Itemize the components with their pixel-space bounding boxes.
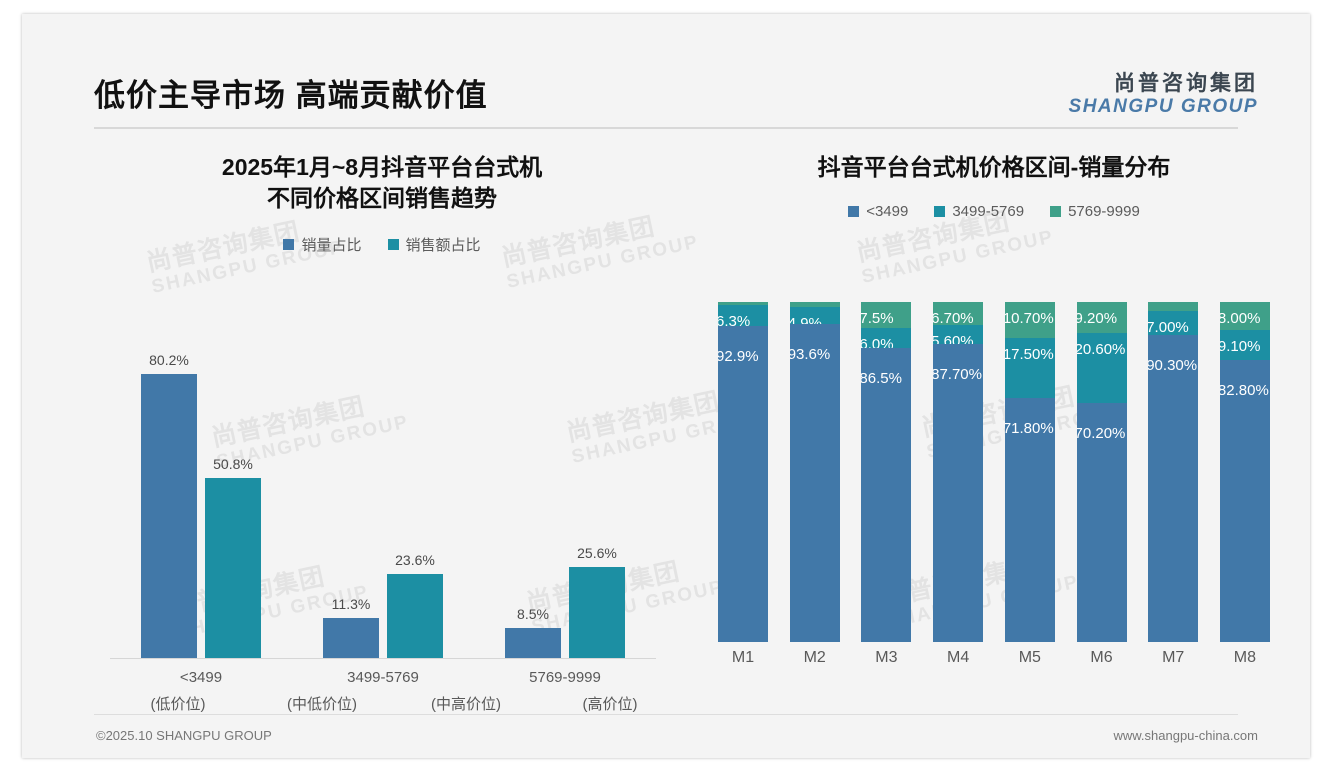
bar-wrapper: 8.5% <box>505 304 561 658</box>
right-chart-panel: 抖音平台台式机价格区间-销量分布 <34993499-57695769-9999… <box>694 144 1294 704</box>
bar-wrapper: 11.3% <box>323 304 379 658</box>
logo-text-en: SHANGPU GROUP <box>1069 96 1258 118</box>
stacked-bar[interactable]: 1.5%4.9%93.6% <box>790 302 840 642</box>
stack-segment[interactable]: 71.80% <box>1005 398 1055 642</box>
x-axis-sublabel: (高价位) <box>583 693 638 714</box>
stack-segment[interactable]: 93.6% <box>790 324 840 642</box>
stacked-bar[interactable]: 7.5%6.0%86.5% <box>861 302 911 642</box>
bar[interactable] <box>569 567 625 658</box>
stacked-bar[interactable]: 0.8%6.3%92.9% <box>718 302 768 642</box>
stacked-bar[interactable]: 6.70%5.60%87.70% <box>933 302 983 642</box>
stack-segment-label: 7.00% <box>1148 319 1189 336</box>
stack-segment-label: 82.80% <box>1220 382 1269 399</box>
bar-value-label: 23.6% <box>395 552 435 568</box>
x-axis-sublabel: (中低价位) <box>287 693 357 714</box>
bar-value-label: 11.3% <box>332 596 371 612</box>
stacked-bar[interactable]: 10.70%17.50%71.80% <box>1005 302 1055 642</box>
bar-value-label: 8.5% <box>517 606 549 622</box>
legend-label: 销量占比 <box>301 234 361 255</box>
bar[interactable] <box>141 374 197 658</box>
stack-segment-label: 10.70% <box>1005 310 1054 327</box>
stack-segment[interactable]: 7.5% <box>861 302 911 328</box>
legend-label: 销售额占比 <box>406 234 481 255</box>
stack-segment-label: 7.5% <box>861 310 893 327</box>
legend-label: 5769-9999 <box>1068 203 1140 220</box>
page-title: 低价主导市场 高端贡献价值 <box>94 70 488 115</box>
stack-segment-label: 17.50% <box>1005 346 1054 363</box>
x-axis-label: M7 <box>1148 649 1198 667</box>
stack-segment[interactable]: 70.20% <box>1077 403 1127 642</box>
legend-item[interactable]: 5769-9999 <box>1050 203 1140 220</box>
stack-segment-label: 86.5% <box>861 370 902 387</box>
footer-copyright: ©2025.10 SHANGPU GROUP <box>96 728 272 743</box>
stack-segment[interactable]: 6.70% <box>933 302 983 325</box>
stack-segment-label: 70.20% <box>1077 425 1126 442</box>
right-chart-x-labels: M1M2M3M4M5M6M7M8 <box>718 649 1270 667</box>
stack-segment[interactable]: 17.50% <box>1005 338 1055 398</box>
right-chart-plot: 0.8%6.3%92.9%1.5%4.9%93.6%7.5%6.0%86.5%6… <box>718 302 1270 642</box>
stack-segment[interactable]: 82.80% <box>1220 360 1270 642</box>
stack-segment-label: 93.6% <box>790 346 831 363</box>
right-chart-title-line1: 抖音平台台式机价格区间-销量分布 <box>818 154 1171 180</box>
logo-text-cn: 尚普咨询集团 <box>1069 72 1258 96</box>
bar-wrapper: 25.6% <box>569 304 625 658</box>
legend-item[interactable]: 销量占比 <box>283 234 361 255</box>
bar[interactable] <box>505 628 561 658</box>
x-axis-label: M2 <box>790 649 840 667</box>
stack-segment-label: 20.60% <box>1077 341 1126 358</box>
x-axis-label: M5 <box>1005 649 1055 667</box>
left-chart-legend: 销量占比销售额占比 <box>82 234 682 255</box>
bar-value-label: 80.2% <box>149 352 189 368</box>
stacked-bar[interactable]: 2.70%7.00%90.30% <box>1148 302 1198 642</box>
legend-item[interactable]: 销售额占比 <box>388 234 481 255</box>
brand-logo: 尚普咨询集团 SHANGPU GROUP <box>1069 72 1258 118</box>
x-axis-label: M6 <box>1077 649 1127 667</box>
header-divider <box>94 127 1238 129</box>
stack-segment[interactable]: 5.60% <box>933 325 983 344</box>
x-axis-label: M1 <box>718 649 768 667</box>
x-axis-label: M4 <box>933 649 983 667</box>
stack-segment-label: 71.80% <box>1005 420 1054 437</box>
stack-segment[interactable]: 2.70% <box>1148 302 1198 311</box>
x-axis-label: M8 <box>1220 649 1270 667</box>
footer-divider <box>94 714 1238 715</box>
legend-item[interactable]: 3499-5769 <box>934 203 1024 220</box>
bar[interactable] <box>323 618 379 658</box>
bar-wrapper: 23.6% <box>387 304 443 658</box>
left-chart-title-line1: 2025年1月~8月抖音平台台式机 <box>222 154 542 180</box>
stack-segment[interactable]: 4.9% <box>790 307 840 324</box>
stack-segment[interactable]: 90.30% <box>1148 335 1198 642</box>
legend-label: <3499 <box>866 203 908 220</box>
stack-segment-label: 92.9% <box>718 348 759 365</box>
bar[interactable] <box>387 574 443 658</box>
stack-segment[interactable]: 87.70% <box>933 344 983 642</box>
left-chart-title-line2: 不同价格区间销售趋势 <box>82 183 682 214</box>
footer-website: www.shangpu-china.com <box>1113 728 1258 743</box>
stack-segment-label: 87.70% <box>933 366 982 383</box>
x-axis-label: 5769-9999 <box>529 669 601 686</box>
bar-group: 8.5%25.6% <box>474 304 656 658</box>
x-axis-label: M3 <box>861 649 911 667</box>
legend-swatch-icon <box>1050 206 1061 217</box>
x-axis-line <box>110 658 656 659</box>
stack-segment-label: 8.00% <box>1220 310 1261 327</box>
bar-value-label: 50.8% <box>213 456 253 472</box>
legend-swatch-icon <box>283 239 294 250</box>
left-chart-plot: 80.2%50.8%11.3%23.6%8.5%25.6% <box>110 304 656 659</box>
legend-swatch-icon <box>848 206 859 217</box>
legend-swatch-icon <box>934 206 945 217</box>
x-axis-label: <3499 <box>180 669 222 686</box>
stack-segment[interactable]: 86.5% <box>861 348 911 642</box>
stack-segment[interactable]: 9.10% <box>1220 330 1270 361</box>
stack-segment-label: 90.30% <box>1148 357 1197 374</box>
bar-group: 11.3%23.6% <box>292 304 474 658</box>
stack-segment-label: 9.20% <box>1077 310 1118 327</box>
bar-wrapper: 80.2% <box>141 304 197 658</box>
bar-wrapper: 50.8% <box>205 304 261 658</box>
bar-value-label: 25.6% <box>577 545 617 561</box>
left-chart-x-labels: <34993499-57695769-9999(低价位)(中低价位)(中高价位)… <box>110 669 656 729</box>
right-chart-legend: <34993499-57695769-9999 <box>694 203 1294 220</box>
stacked-bar[interactable]: 8.00%9.10%82.80% <box>1220 302 1270 642</box>
legend-item[interactable]: <3499 <box>848 203 908 220</box>
stack-segment[interactable]: 8.00% <box>1220 302 1270 329</box>
stack-segment[interactable]: 6.3% <box>718 305 768 326</box>
legend-label: 3499-5769 <box>952 203 1024 220</box>
bar[interactable] <box>205 478 261 658</box>
x-axis-label: 3499-5769 <box>347 669 419 686</box>
legend-swatch-icon <box>388 239 399 250</box>
stack-segment[interactable]: 7.00% <box>1148 311 1198 335</box>
left-chart-panel: 2025年1月~8月抖音平台台式机 不同价格区间销售趋势 销量占比销售额占比 8… <box>82 144 682 704</box>
header: 低价主导市场 高端贡献价值 尚普咨询集团 SHANGPU GROUP <box>22 14 1310 110</box>
stack-segment[interactable]: 92.9% <box>718 326 768 642</box>
stack-segment-label: 9.10% <box>1220 338 1261 355</box>
stack-segment[interactable]: 20.60% <box>1077 333 1127 403</box>
stacked-bar[interactable]: 9.20%20.60%70.20% <box>1077 302 1127 642</box>
stack-segment[interactable]: 9.20% <box>1077 302 1127 333</box>
bar-group: 80.2%50.8% <box>110 304 292 658</box>
x-axis-sublabel: (中高价位) <box>431 693 501 714</box>
slide: 尚普咨询集团 SHANGPU GROUP 尚普咨询集团 SHANGPU GROU… <box>22 14 1310 758</box>
x-axis-sublabel: (低价位) <box>151 693 206 714</box>
left-chart-title: 2025年1月~8月抖音平台台式机 不同价格区间销售趋势 <box>82 144 682 214</box>
stack-segment[interactable]: 6.0% <box>861 328 911 348</box>
stack-segment[interactable]: 10.70% <box>1005 302 1055 338</box>
right-chart-title: 抖音平台台式机价格区间-销量分布 <box>694 144 1294 183</box>
